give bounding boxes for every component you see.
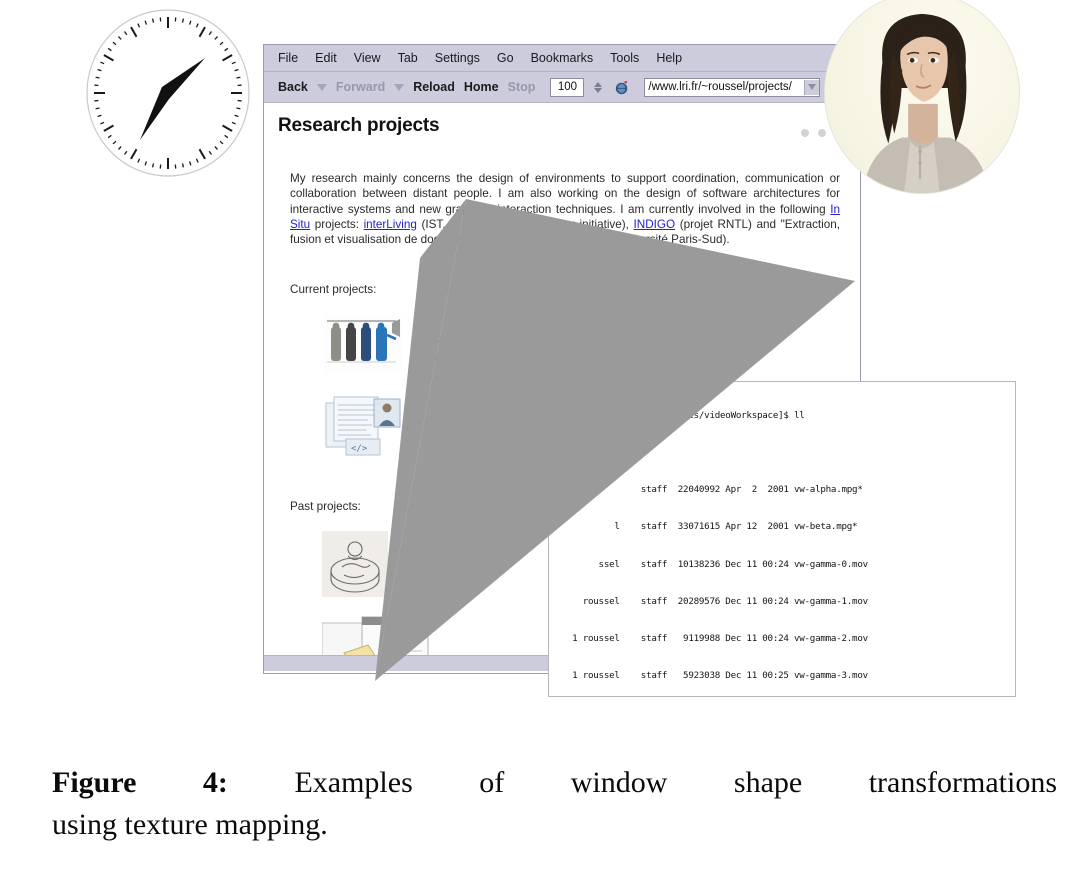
figure-image: File Edit View Tab Settings Go Bookmarks… xyxy=(0,0,1082,740)
zoom-stepper[interactable] xyxy=(594,82,602,93)
terminal-output: ts/videoWorkspace]$ ll staff 22040992 Ap… xyxy=(551,385,1013,697)
figure-caption: Figure 4: Examples of window shape trans… xyxy=(52,762,1057,846)
terminal-line: 1 roussel staff 9119988 Dec 11 00:24 vw-… xyxy=(551,633,1013,645)
para-text-3: (IST, Disappearing Computer initiative), xyxy=(417,218,634,231)
menu-item-tab[interactable]: Tab xyxy=(398,52,418,65)
link-indigo[interactable]: INDIGO xyxy=(634,218,676,231)
terminal-line: staff 22040992 Apr 2 2001 vw-alpha.mpg* xyxy=(551,484,1013,496)
menu-item-help[interactable]: Help xyxy=(656,52,682,65)
para-text-1: My research mainly concerns the design o… xyxy=(290,172,840,216)
zoom-increase-icon[interactable] xyxy=(594,82,602,87)
clock-face-icon xyxy=(83,7,253,179)
zoom-level-input[interactable]: 100 xyxy=(550,78,584,97)
caption-text-1: Examples of window shape transformations xyxy=(294,766,1057,799)
sketch-small-round-thumbnail xyxy=(394,527,446,573)
menu-item-edit[interactable]: Edit xyxy=(315,52,337,65)
document-window-thumbnail: </> xyxy=(324,395,404,457)
menu-item-go[interactable]: Go xyxy=(497,52,514,65)
stop-button[interactable]: Stop xyxy=(508,80,536,94)
back-button[interactable]: Back xyxy=(278,80,308,94)
forward-dropdown-icon[interactable] xyxy=(394,84,404,91)
caption-label: Figure 4: xyxy=(52,766,228,799)
reload-button[interactable]: Reload xyxy=(413,80,455,94)
para-text-2: projects: xyxy=(310,218,363,231)
url-history-dropdown-icon[interactable] xyxy=(804,80,819,95)
intro-paragraph: My research mainly concerns the design o… xyxy=(290,171,840,248)
back-dropdown-icon[interactable] xyxy=(317,84,327,91)
browser-menubar[interactable]: File Edit View Tab Settings Go Bookmarks… xyxy=(264,45,860,72)
home-button[interactable]: Home xyxy=(464,80,499,94)
menu-item-settings[interactable]: Settings xyxy=(435,52,480,65)
people-video-wall-thumbnail xyxy=(324,315,402,373)
terminal-line: 1 roussel staff 5923038 Dec 11 00:25 vw-… xyxy=(551,670,1013,682)
globe-icon[interactable] xyxy=(615,80,630,95)
terminal-line: ssel staff 10138236 Dec 11 00:24 vw-gamm… xyxy=(551,559,1013,571)
svg-text:</>: </> xyxy=(351,444,368,454)
analog-clock-compass-window[interactable] xyxy=(83,7,253,179)
video-subject-person xyxy=(825,0,1019,193)
terminal-line: l staff 33071615 Apr 12 2001 vw-beta.mpg… xyxy=(551,521,1013,533)
menu-item-tools[interactable]: Tools xyxy=(610,52,639,65)
zoom-decrease-icon[interactable] xyxy=(594,88,602,93)
dot-1 xyxy=(801,129,809,137)
caption-line-1: Figure 4: Examples of window shape trans… xyxy=(52,762,1057,804)
video-portrait-window[interactable] xyxy=(824,0,1020,194)
url-input[interactable]: /www.lri.fr/~roussel/projects/ xyxy=(645,81,804,93)
browser-toolbar[interactable]: Back Forward Reload Home Stop 100 /www.l… xyxy=(264,72,860,103)
address-bar[interactable]: /www.lri.fr/~roussel/projects/ xyxy=(644,78,820,97)
menu-item-file[interactable]: File xyxy=(278,52,298,65)
terminal-window[interactable]: ts/videoWorkspace]$ ll staff 22040992 Ap… xyxy=(548,381,1016,697)
terminal-line: ts/videoWorkspace]$ ll xyxy=(551,410,1013,422)
menu-item-bookmarks[interactable]: Bookmarks xyxy=(531,52,594,65)
sketch-round-table-thumbnail xyxy=(322,531,388,597)
menu-item-view[interactable]: View xyxy=(354,52,381,65)
terminal-line xyxy=(551,447,1013,459)
terminal-line: roussel staff 20289576 Dec 11 00:24 vw-g… xyxy=(551,596,1013,608)
forward-button[interactable]: Forward xyxy=(336,80,385,94)
current-project-1-text: Unde… phys… vide… xyxy=(429,321,619,367)
label-current-projects: Current projects: xyxy=(290,283,376,296)
label-past-projects: Past projects: xyxy=(290,500,361,513)
caption-line-2: using texture mapping. xyxy=(52,804,1057,846)
link-interliving[interactable]: interLiving xyxy=(364,218,417,231)
page-title: Research projects xyxy=(278,115,439,137)
